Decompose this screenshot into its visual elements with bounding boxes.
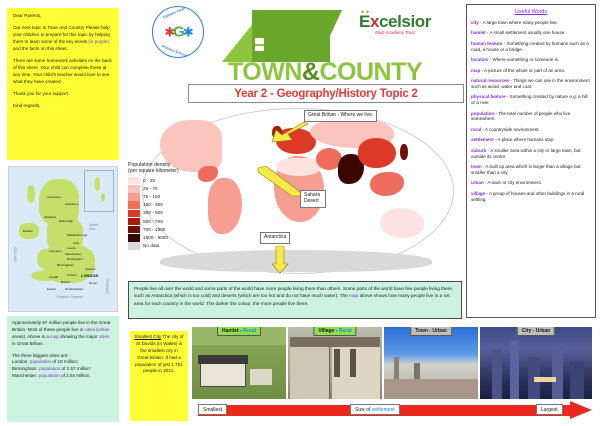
uk-text-paragraph-1: Approximately 67 million people live in … bbox=[12, 320, 114, 348]
legend-row: 25 - 75 bbox=[128, 185, 220, 193]
legend-swatch bbox=[128, 234, 140, 242]
uk-city-exeter: Exeter bbox=[47, 287, 56, 291]
uk-city-southampton: Southampton bbox=[65, 287, 83, 291]
uk-city-liverpool: Liverpool bbox=[49, 249, 62, 253]
settlement-photo-village: Village - Rural bbox=[288, 327, 382, 399]
hamlet-house bbox=[200, 361, 246, 387]
city-tower-1 bbox=[492, 349, 502, 399]
uk-text-paragraph-2: The three biggest cities are: London: po… bbox=[12, 353, 114, 381]
useful-word-term: hamlet bbox=[471, 30, 486, 35]
settlement-label-village: Village - Rural bbox=[313, 327, 356, 336]
legend-label: No data bbox=[143, 243, 159, 249]
house-icon bbox=[222, 4, 342, 66]
callout-antarctica: Antarctica bbox=[260, 232, 290, 244]
title-town: TOWN bbox=[228, 58, 302, 86]
world-population-description: People live all over the world and some … bbox=[128, 281, 462, 319]
useful-words-title: Useful Words bbox=[471, 9, 591, 16]
useful-word-definition: - A large town where many people live. bbox=[479, 20, 558, 25]
landmass-australia bbox=[380, 208, 424, 238]
settlement-label-town: Town - Urban bbox=[410, 327, 452, 336]
uk-city-dover: Dover bbox=[89, 281, 97, 285]
uk-city-inverness: Inverness bbox=[47, 195, 60, 199]
useful-word-definition: - A town or city environment. bbox=[484, 180, 542, 185]
useful-word-term: physical feature bbox=[471, 94, 506, 99]
useful-word-term: natural resources bbox=[471, 78, 509, 83]
legend-swatch bbox=[128, 210, 140, 218]
school-logo-bottom-text: Primary School bbox=[161, 44, 187, 58]
arrow-sahara bbox=[256, 166, 304, 198]
worksheet-page: Dear Parents, Our next topic is Town and… bbox=[0, 0, 600, 426]
legend-label: 75 - 150 bbox=[143, 194, 160, 200]
letter-paragraph-2: There are some homework activities on th… bbox=[13, 58, 113, 86]
inset-island bbox=[95, 177, 100, 191]
useful-word-definition: - A countryside environment. bbox=[481, 127, 540, 132]
town-rooftops bbox=[384, 379, 478, 399]
uk-city-london: LONDON bbox=[81, 273, 98, 278]
useful-word-entry: rural - A countryside environment. bbox=[471, 127, 591, 133]
purple-note: (in purple) bbox=[88, 39, 109, 44]
uk-sea-ireland: IRELAND bbox=[13, 247, 17, 263]
legend-swatch bbox=[128, 242, 140, 250]
legend-label: 500 - 700 bbox=[143, 219, 163, 225]
village-timber-beam bbox=[334, 349, 340, 377]
arrow-antarctica bbox=[272, 246, 290, 274]
settlement-size-scale: Smallest Size of settlement Largest bbox=[198, 402, 592, 419]
useful-word-entry: map - A picture of the whole or part of … bbox=[471, 68, 591, 74]
useful-words-panel: Useful Words city - A large town where m… bbox=[466, 4, 596, 318]
useful-word-entry: hamlet - A small settlement usually one … bbox=[471, 30, 591, 36]
house-roof-right bbox=[318, 10, 342, 62]
uk-city-oxford: Oxford bbox=[67, 273, 76, 277]
useful-word-term: urban bbox=[471, 180, 484, 185]
useful-word-term: city bbox=[471, 20, 479, 25]
city-tower-4 bbox=[552, 345, 563, 399]
uk-city-cardiff: Cardiff bbox=[49, 275, 58, 279]
scale-label-largest: Largest bbox=[536, 404, 563, 415]
uk-land-hebrides bbox=[27, 185, 35, 203]
city-lights bbox=[534, 377, 556, 382]
useful-word-term: population bbox=[471, 111, 494, 116]
inset-island-2 bbox=[101, 193, 105, 201]
useful-word-entry: town - A built up area which is larger t… bbox=[471, 164, 591, 176]
school-logo-top-text: Calmers Farm bbox=[162, 6, 186, 19]
school-logo: Calmers Farm Primary School ✱G✱ bbox=[152, 6, 204, 58]
useful-word-term: settlement bbox=[471, 137, 494, 142]
legend-swatch bbox=[128, 185, 140, 193]
legend-swatch bbox=[128, 201, 140, 209]
uk-city-middlesbrough: Middlesbrough bbox=[67, 233, 87, 237]
legend-label: 0 - 25 bbox=[143, 178, 155, 184]
legend-row: 700 - 1500 bbox=[128, 226, 220, 234]
legend-row: 500 - 700 bbox=[128, 217, 220, 225]
useful-word-definition: - A small settlement usually one house. bbox=[486, 30, 566, 35]
legend-label: 1500 - 9000 bbox=[143, 235, 168, 241]
landmass-japan bbox=[400, 144, 408, 160]
legend-rows: 0 - 2525 - 7575 - 150150 - 300300 - 5005… bbox=[128, 176, 220, 250]
uk-city-manchester: Manchester bbox=[65, 252, 81, 256]
useful-word-entry: physical feature - Something created by … bbox=[471, 94, 591, 106]
scale-label-middle: Size of settlement bbox=[350, 404, 400, 415]
scale-label-smallest: Smallest bbox=[198, 404, 227, 415]
house-window bbox=[255, 38, 264, 51]
useful-word-term: location bbox=[471, 57, 488, 62]
legend-swatch bbox=[128, 218, 140, 226]
legend-row: 75 - 150 bbox=[128, 193, 220, 201]
legend-row: 300 - 500 bbox=[128, 209, 220, 217]
settlement-photo-city: City - Urban bbox=[480, 327, 592, 399]
legend-swatch bbox=[128, 226, 140, 234]
useful-word-term: map bbox=[471, 68, 480, 73]
useful-word-definition: - Where something or someone is. bbox=[488, 57, 559, 62]
useful-word-entry: village - A group of houses and other bu… bbox=[471, 191, 591, 203]
letter-greeting: Dear Parents, bbox=[13, 13, 113, 20]
useful-word-entry: location - Where something or someone is… bbox=[471, 57, 591, 63]
smallest-city-body: The city of St Davids (in Wales) is the … bbox=[135, 334, 183, 373]
village-timber-beam-2 bbox=[350, 349, 356, 377]
useful-word-term: town bbox=[471, 164, 482, 169]
legend-label: 25 - 75 bbox=[143, 186, 158, 192]
legend-title: Population density (per square kilometer… bbox=[128, 162, 220, 174]
village-cottage-left bbox=[290, 347, 330, 399]
village-roofline bbox=[290, 337, 380, 347]
legend-label: 150 - 300 bbox=[143, 202, 163, 208]
useful-word-definition: - A picture of the whole or part of an a… bbox=[480, 68, 565, 73]
uk-city-aberdeen: Aberdeen bbox=[65, 202, 78, 206]
useful-word-term: human feature bbox=[471, 41, 502, 46]
settlement-photo-hamlet: Hamlet - Rural bbox=[192, 327, 286, 399]
uk-city-birmingham: Birmingham bbox=[57, 263, 74, 267]
useful-word-entry: human feature - Something created by hum… bbox=[471, 41, 591, 53]
page-title: TOWN&COUNTY bbox=[186, 58, 464, 87]
letter-paragraph-1: Our next topic is Town and Country Pleas… bbox=[13, 25, 113, 53]
settlement-photo-town: Town - Urban bbox=[384, 327, 478, 399]
callout-great-britain: Great Britian - Where we live. bbox=[304, 110, 377, 122]
uk-city-bristol: Bristol bbox=[61, 280, 70, 284]
useful-word-entry: suburb - A smaller area within a city or… bbox=[471, 148, 591, 160]
useful-word-term: rural bbox=[471, 127, 481, 132]
uk-city-nottingham: Nottingham bbox=[67, 257, 83, 261]
legend-label: 700 - 1500 bbox=[143, 227, 165, 233]
useful-word-entry: natural resources - Things we can use in… bbox=[471, 78, 591, 90]
arrow-great-britain bbox=[270, 122, 310, 144]
useful-word-term: suburb bbox=[471, 148, 486, 153]
children-logo-icon: ✱G✱ bbox=[164, 24, 191, 41]
uk-sea-france: FRANCE bbox=[105, 279, 109, 294]
smallest-city-heading: Smallest City bbox=[134, 334, 161, 339]
map-legend: Population density (per square kilometer… bbox=[128, 162, 220, 250]
hamlet-outbuilding bbox=[250, 369, 272, 385]
sparkle-icon: ✦✦ bbox=[360, 9, 370, 16]
legend-row: 150 - 300 bbox=[128, 201, 220, 209]
uk-city-edinburgh: Edinburgh bbox=[59, 219, 73, 223]
useful-word-entry: city - A large town where many people li… bbox=[471, 20, 591, 26]
uk-city-glasgow: Glasgow bbox=[44, 215, 56, 219]
useful-word-term: village bbox=[471, 191, 485, 196]
parent-letter: Dear Parents, Our next topic is Town and… bbox=[7, 8, 119, 160]
uk-map: Inverness Aberdeen Glasgow Edinburgh Bel… bbox=[8, 166, 118, 312]
world-population-map: Population density (per square kilometer… bbox=[124, 104, 464, 280]
uk-sea-north-sea: NorthSea bbox=[89, 223, 98, 231]
useful-word-definition: - A smaller area within a city or large … bbox=[471, 148, 580, 159]
settlement-label-hamlet: Hamlet - Rural bbox=[217, 327, 261, 336]
legend-swatch bbox=[128, 177, 140, 185]
city-tower-5 bbox=[570, 361, 584, 399]
legend-label: 300 - 500 bbox=[143, 210, 163, 216]
legend-row: 0 - 25 bbox=[128, 176, 220, 184]
legend-row: 1500 - 9000 bbox=[128, 234, 220, 242]
uk-city-leeds: Leeds bbox=[67, 246, 75, 250]
legend-row: No data bbox=[128, 242, 220, 250]
letter-signoff: Kind regards, bbox=[13, 103, 113, 110]
useful-word-entry: population - The total number of people … bbox=[471, 111, 591, 123]
city-tower-2 bbox=[510, 341, 519, 399]
uk-population-text: Approximately 67 million people live in … bbox=[7, 316, 119, 422]
title-ampersand: & bbox=[302, 58, 320, 86]
useful-word-entry: settlement - A place where humans stay. bbox=[471, 137, 591, 143]
landmass-antarctica bbox=[160, 250, 432, 272]
smallest-city-fact: Smallest City The city of St Davids (in … bbox=[130, 331, 188, 421]
useful-word-definition: - A place where humans stay. bbox=[494, 137, 554, 142]
settlement-label-city: City - Urban bbox=[517, 327, 555, 336]
useful-word-definition: - A group of houses and other buildings … bbox=[471, 191, 584, 202]
year-topic-banner: Year 2 - Geography/History Topic 2 bbox=[188, 84, 464, 103]
uk-city-york: York bbox=[73, 241, 79, 245]
landmass-china bbox=[358, 138, 396, 168]
title-county: COUNTY bbox=[319, 58, 422, 86]
useful-words-list: city - A large town where many people li… bbox=[471, 20, 591, 203]
hamlet-roof bbox=[198, 355, 248, 364]
town-spire bbox=[394, 357, 399, 379]
useful-word-entry: urban - A town or city environment. bbox=[471, 180, 591, 186]
legend-swatch bbox=[128, 193, 140, 201]
uk-map-inset-shetland bbox=[84, 170, 114, 212]
useful-word-definition: - A built up area which is larger than a… bbox=[471, 164, 580, 175]
letter-thanks: Thank you for your support. bbox=[13, 91, 113, 98]
scale-arrow-head-icon bbox=[570, 401, 592, 419]
callout-sahara: Sahara Desert bbox=[300, 190, 326, 208]
trust-logo: ✦✦ Excelsior Multi Academy Trust bbox=[352, 12, 438, 48]
uk-city-ipswich: Ipswich bbox=[85, 267, 95, 271]
uk-city-belfast: Belfast bbox=[23, 229, 32, 233]
uk-sea-english-channel: English Channel bbox=[57, 295, 83, 299]
